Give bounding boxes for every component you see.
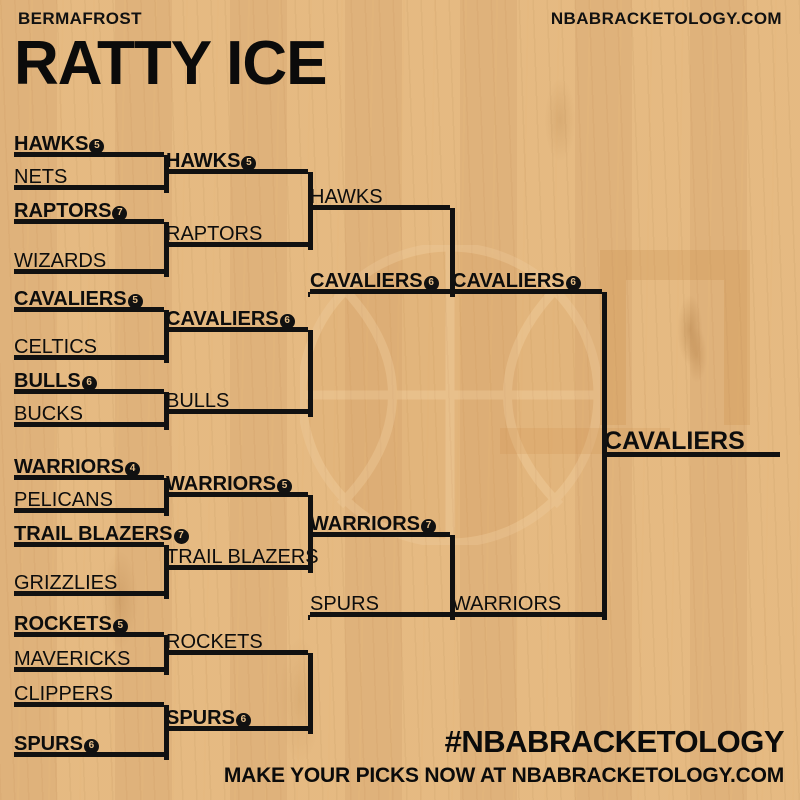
team-name: HAWKS5 (14, 134, 104, 154)
bracket-connector (450, 535, 455, 620)
bracket-connector (308, 495, 313, 573)
team-underline (310, 612, 450, 617)
champion-slot[interactable]: CAVALIERS (604, 422, 780, 457)
team-underline (14, 475, 164, 480)
round2-slot[interactable]: CAVALIERS6 (166, 302, 308, 332)
team-name: SPURS6 (14, 734, 99, 754)
round1-slot[interactable]: HAWKS5 (14, 127, 164, 157)
team-underline (14, 307, 164, 312)
team-underline (166, 242, 308, 247)
bracket-connector (164, 392, 169, 430)
team-underline (14, 389, 164, 394)
bracket-connector (164, 495, 166, 500)
team-name: BUCKS (14, 404, 83, 424)
team-underline (166, 327, 308, 332)
round1-slot[interactable]: WIZARDS (14, 244, 164, 274)
team-underline (14, 542, 164, 547)
team-name: PELICANS (14, 490, 113, 510)
round2-slot[interactable]: SPURS6 (166, 701, 308, 731)
round3-slot[interactable]: CAVALIERS6 (310, 264, 450, 294)
bracket-connector (164, 245, 166, 250)
bracket-connector (450, 292, 452, 297)
team-name: MAVERICKS (14, 649, 130, 669)
bracket-connector (308, 208, 310, 213)
finals-slot[interactable]: CAVALIERS6 (452, 264, 602, 294)
team-name: SPURS6 (166, 708, 251, 728)
round2-slot[interactable]: BULLS (166, 384, 308, 414)
team-underline (14, 632, 164, 637)
round3-slot[interactable]: WARRIORS7 (310, 507, 450, 537)
round2-slot[interactable]: TRAIL BLAZERS (166, 540, 308, 570)
team-underline (14, 152, 164, 157)
bracket-connector (164, 568, 166, 573)
team-name: CAVALIERS6 (166, 309, 295, 329)
round1-slot[interactable]: SPURS6 (14, 727, 164, 757)
team-underline (604, 452, 780, 457)
team-name: CAVALIERS (604, 429, 745, 454)
bracket-connector (308, 535, 310, 540)
team-underline (166, 726, 308, 731)
bracket-connector (308, 615, 310, 620)
team-name: WARRIORS (452, 594, 561, 614)
bracket-poster: BERMAFROST NBABRACKETOLOGY.COM RATTY ICE… (0, 0, 800, 800)
team-name: WIZARDS (14, 251, 106, 271)
hashtag-label: #NBABRACKETOLOGY (445, 724, 784, 760)
team-name: HAWKS (310, 187, 383, 207)
team-name: ROCKETS (166, 632, 263, 652)
team-underline (14, 185, 164, 190)
team-name: CLIPPERS (14, 684, 113, 704)
bracket-connector (450, 615, 452, 620)
round1-slot[interactable]: GRIZZLIES (14, 566, 164, 596)
bracket-connector (450, 208, 455, 297)
team-name: BULLS6 (14, 371, 97, 391)
round3-slot[interactable]: SPURS (310, 587, 450, 617)
team-underline (166, 409, 308, 414)
team-underline (14, 667, 164, 672)
round3-slot[interactable]: HAWKS (310, 180, 450, 210)
team-underline (166, 565, 308, 570)
team-underline (310, 289, 450, 294)
team-underline (14, 355, 164, 360)
team-underline (14, 591, 164, 596)
team-underline (14, 508, 164, 513)
team-underline (14, 269, 164, 274)
team-name: RAPTORS7 (14, 201, 127, 221)
page-title: RATTY ICE (14, 33, 327, 95)
round2-slot[interactable]: HAWKS5 (166, 144, 308, 174)
team-underline (166, 650, 308, 655)
round1-slot[interactable]: MAVERICKS (14, 642, 164, 672)
bracket-connector (164, 330, 166, 335)
round1-slot[interactable]: CLIPPERS (14, 677, 164, 707)
round1-slot[interactable]: WARRIORS4 (14, 450, 164, 480)
team-name: ROCKETS5 (14, 614, 128, 634)
team-name: WARRIORS5 (166, 474, 292, 494)
team-underline (14, 219, 164, 224)
bracket-connector (308, 653, 313, 734)
round1-slot[interactable]: PELICANS (14, 483, 164, 513)
team-name: CELTICS (14, 337, 97, 357)
team-underline (14, 752, 164, 757)
round1-slot[interactable]: NETS (14, 160, 164, 190)
team-name: RAPTORS (166, 224, 262, 244)
bracket-connector (308, 292, 310, 297)
bracket-connector (164, 172, 166, 177)
site-label: NBABRACKETOLOGY.COM (551, 9, 782, 29)
team-name: BULLS (166, 391, 229, 411)
team-name: NETS (14, 167, 67, 187)
bracket-connector (164, 412, 166, 417)
round1-slot[interactable]: CAVALIERS5 (14, 282, 164, 312)
round1-slot[interactable]: BUCKS (14, 397, 164, 427)
team-name: TRAIL BLAZERS (166, 547, 319, 567)
round2-slot[interactable]: RAPTORS (166, 217, 308, 247)
bracket-connector (164, 729, 166, 734)
team-underline (166, 492, 308, 497)
team-name: SPURS (310, 594, 379, 614)
team-underline (310, 532, 450, 537)
round1-slot[interactable]: CELTICS (14, 330, 164, 360)
team-underline (14, 702, 164, 707)
round1-slot[interactable]: TRAIL BLAZERS7 (14, 517, 164, 547)
cta-label: MAKE YOUR PICKS NOW AT NBABRACKETOLOGY.C… (224, 764, 784, 788)
team-underline (166, 169, 308, 174)
round2-slot[interactable]: WARRIORS5 (166, 467, 308, 497)
team-underline (310, 205, 450, 210)
team-name: WARRIORS7 (310, 514, 436, 534)
team-name: CAVALIERS5 (14, 289, 143, 309)
team-underline (452, 289, 602, 294)
bracket-connector (602, 455, 604, 460)
brand-label: BERMAFROST (18, 9, 142, 29)
team-name: HAWKS5 (166, 151, 256, 171)
team-underline (452, 612, 602, 617)
bracket-connector (164, 653, 166, 658)
finals-slot[interactable]: WARRIORS (452, 587, 602, 617)
team-underline (14, 422, 164, 427)
team-name: TRAIL BLAZERS7 (14, 524, 189, 544)
round1-slot[interactable]: ROCKETS5 (14, 607, 164, 637)
team-name: CAVALIERS6 (310, 271, 439, 291)
team-name: WARRIORS4 (14, 457, 140, 477)
bracket-connector (308, 330, 313, 417)
team-name: GRIZZLIES (14, 573, 117, 593)
bracket-connector (164, 310, 169, 363)
round1-slot[interactable]: BULLS6 (14, 364, 164, 394)
round2-slot[interactable]: ROCKETS (166, 625, 308, 655)
team-name: CAVALIERS6 (452, 271, 581, 291)
round1-slot[interactable]: RAPTORS7 (14, 194, 164, 224)
